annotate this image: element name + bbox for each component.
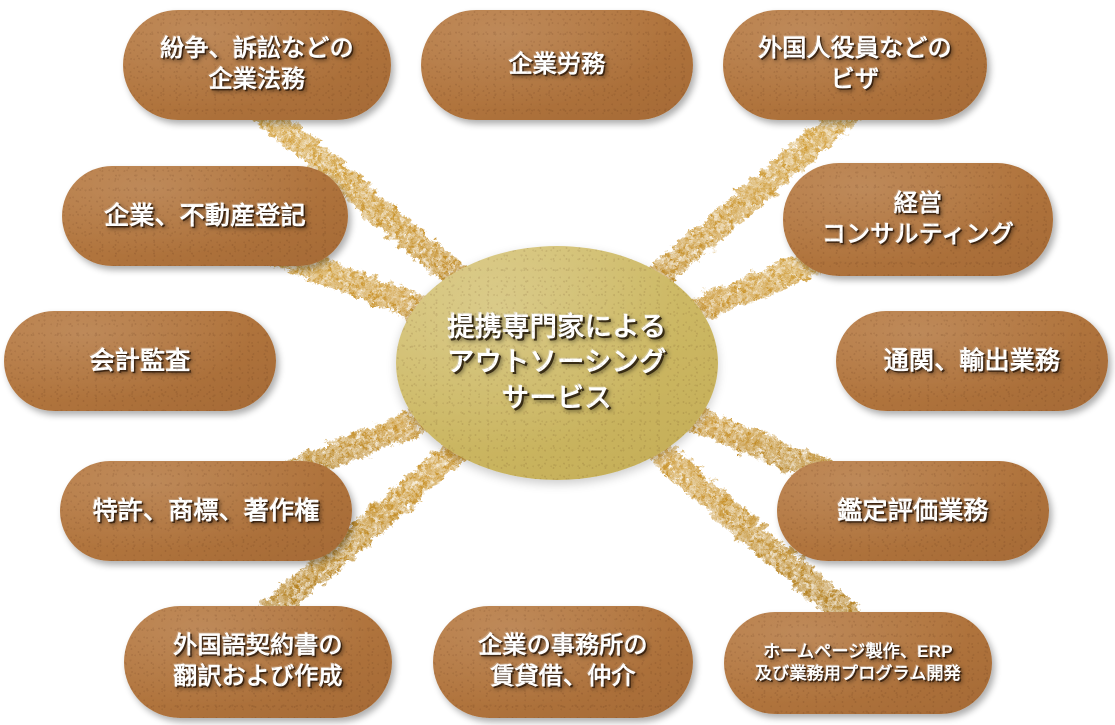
node-office-lease[interactable]: 企業の事務所の 賃貸借、仲介: [433, 606, 693, 718]
node-label: 外国人役員などの ビザ: [746, 34, 964, 95]
node-label: 企業、不動産登記: [92, 200, 318, 232]
node-corporate-legal[interactable]: 紛争、訴訟などの 企業法務: [123, 10, 391, 120]
node-label: 紛争、訴訟などの 企業法務: [148, 34, 366, 95]
node-management-consulting[interactable]: 経営 コンサルティング: [783, 163, 1053, 276]
hub-node[interactable]: 提携専門家による アウトソーシング サービス: [396, 246, 718, 480]
diagram-canvas: 提携専門家による アウトソーシング サービス 紛争、訴訟などの 企業法務 企業労…: [0, 0, 1115, 725]
node-appraisal[interactable]: 鑑定評価業務: [777, 461, 1049, 561]
node-label: 経営 コンサルティング: [810, 189, 1026, 250]
node-label: 企業労務: [497, 50, 618, 81]
node-registration[interactable]: 企業、不動産登記: [62, 166, 348, 266]
node-web-erp[interactable]: ホームページ製作、ERP 及び業務用プログラム開発: [724, 612, 992, 714]
node-label: 鑑定評価業務: [825, 495, 1000, 527]
node-label: 会計監査: [78, 345, 203, 377]
node-translation[interactable]: 外国語契約書の 翻訳および作成: [124, 606, 392, 718]
node-label: 通関、輸出業務: [872, 345, 1072, 377]
node-ip-rights[interactable]: 特許、商標、著作権: [60, 461, 352, 561]
node-customs-export[interactable]: 通関、輸出業務: [836, 311, 1108, 411]
hub-label: 提携専門家による アウトソーシング サービス: [447, 310, 666, 415]
node-foreign-officer-visa[interactable]: 外国人役員などの ビザ: [723, 10, 987, 120]
node-label: 外国語契約書の 翻訳および作成: [161, 631, 354, 692]
node-accounting-audit[interactable]: 会計監査: [4, 311, 276, 411]
node-label: 特許、商標、著作権: [81, 495, 332, 527]
node-corporate-labor[interactable]: 企業労務: [421, 10, 693, 120]
node-label: 企業の事務所の 賃貸借、仲介: [466, 631, 659, 692]
node-label: ホームページ製作、ERP 及び業務用プログラム開発: [743, 641, 973, 685]
